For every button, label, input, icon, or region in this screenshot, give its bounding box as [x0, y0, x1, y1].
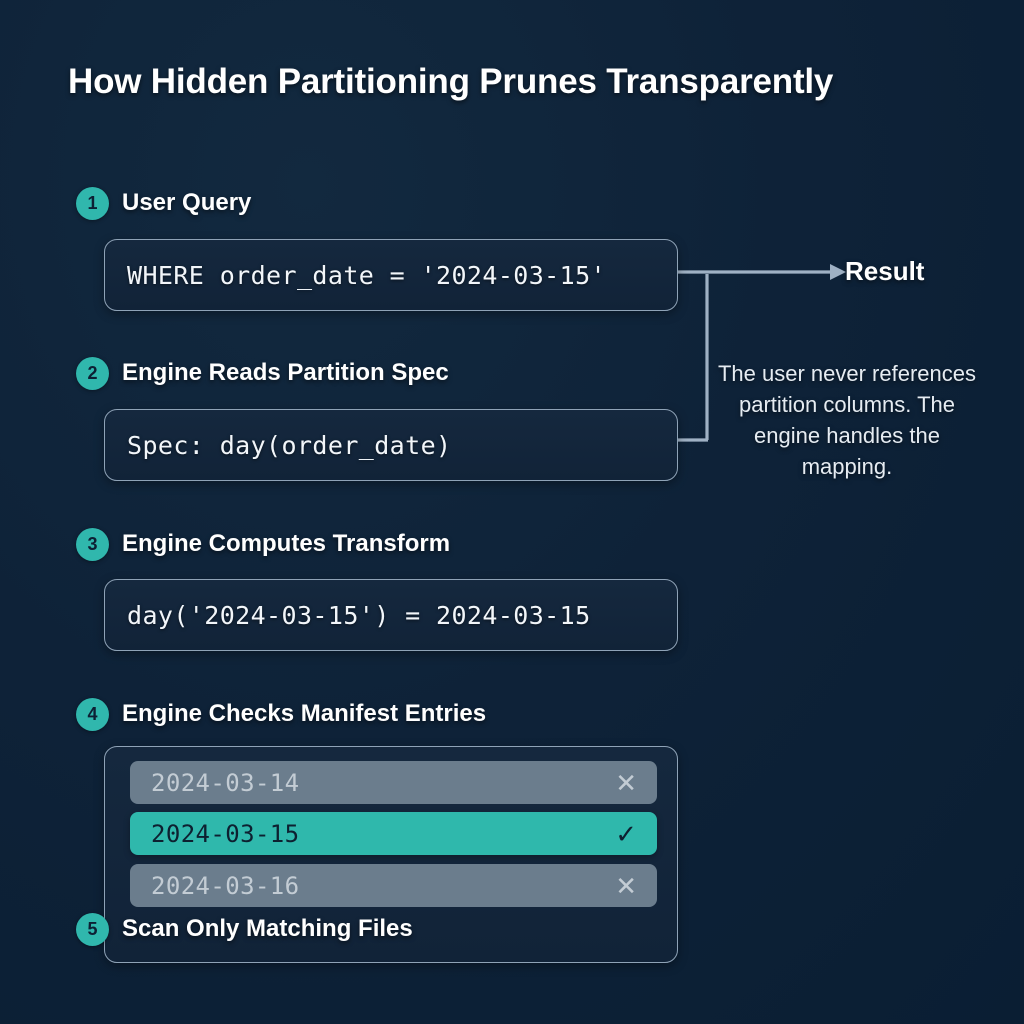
step-4-header: 4 Engine Checks Manifest Entries [76, 696, 486, 732]
step-2-header: 2 Engine Reads Partition Spec [76, 355, 449, 391]
step-1-title: User Query [122, 189, 251, 217]
manifest-row[interactable]: 2024-03-15 ✓ [130, 812, 657, 855]
step-2-title: Engine Reads Partition Spec [122, 359, 449, 387]
manifest-row[interactable]: 2024-03-16 ✕ [130, 864, 657, 907]
cross-icon: ✕ [615, 770, 637, 796]
step-5-badge: 5 [76, 913, 109, 946]
cross-icon: ✕ [615, 873, 637, 899]
step-4-badge: 4 [76, 698, 109, 731]
result-label: Result [845, 256, 924, 287]
page-title: How Hidden Partitioning Prunes Transpare… [68, 62, 968, 102]
step-1-badge: 1 [76, 187, 109, 220]
step-1-code-box: WHERE order_date = '2024-03-15' [104, 239, 678, 311]
step-3-code-box: day('2024-03-15') = 2024-03-15 [104, 579, 678, 651]
step-5-header: 5 Scan Only Matching Files [76, 911, 413, 947]
side-note-text: The user never references partition colu… [716, 358, 978, 482]
step-2-badge: 2 [76, 357, 109, 390]
manifest-row-date: 2024-03-14 [151, 769, 300, 797]
check-icon: ✓ [615, 821, 637, 847]
manifest-row[interactable]: 2024-03-14 ✕ [130, 761, 657, 804]
step-3-header: 3 Engine Computes Transform [76, 526, 450, 562]
step-2-code-box: Spec: day(order_date) [104, 409, 678, 481]
step-3-badge: 3 [76, 528, 109, 561]
infographic-canvas: How Hidden Partitioning Prunes Transpare… [0, 0, 1024, 1024]
step-3-code-text: day('2024-03-15') = 2024-03-15 [127, 601, 591, 630]
step-5-title: Scan Only Matching Files [122, 915, 413, 943]
manifest-row-date: 2024-03-15 [151, 820, 300, 848]
step-2-code-text: Spec: day(order_date) [127, 431, 451, 460]
step-1-code-text: WHERE order_date = '2024-03-15' [127, 261, 606, 290]
step-1-header: 1 User Query [76, 185, 251, 221]
step-3-title: Engine Computes Transform [122, 530, 450, 558]
step-4-title: Engine Checks Manifest Entries [122, 700, 486, 728]
manifest-row-date: 2024-03-16 [151, 872, 300, 900]
